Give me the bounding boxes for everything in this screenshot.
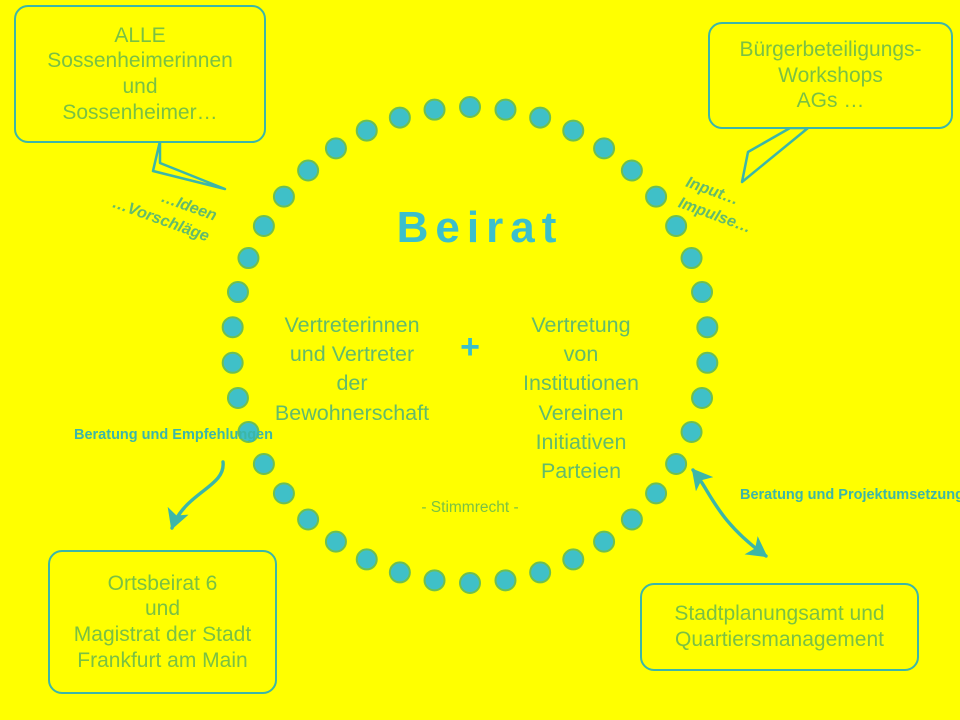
box-stadtplanung-line-1: Stadtplanungsamt und [674, 601, 884, 627]
callout-workshops-line-1: Bürgerbeteiligungs- [739, 37, 921, 63]
callout-alle-line-4: Sossenheimer… [62, 100, 217, 126]
callout-workshops-line-3: AGs … [797, 88, 865, 114]
arrow-label-beratung-empf-line-1: Beratung und [74, 427, 168, 443]
arrow-label-beratung-projektumsetzung: Beratung und Projektumsetzung [740, 485, 920, 505]
arrow-label-beratung-proj-line-2: Projektumsetzung [838, 487, 960, 503]
callout-alle-sossenheimer: ALLE Sossenheimerinnen und Sossenheimer… [14, 5, 266, 143]
box-ortsbeirat-line-4: Frankfurt am Main [77, 648, 247, 674]
box-ortsbeirat-line-3: Magistrat der Stadt [74, 622, 251, 648]
box-stadtplanungsamt-quartiersmanagement: Stadtplanungsamt und Quartiersmanagement [640, 583, 919, 671]
box-ortsbeirat-line-2: und [145, 596, 180, 622]
callout-workshops-tail [742, 128, 808, 182]
callout-alle-tail [153, 141, 225, 189]
callout-alle-line-1: ALLE [114, 23, 165, 49]
box-ortsbeirat-line-1: Ortsbeirat 6 [108, 571, 218, 597]
arrow-label-beratung-proj-line-1: Beratung und [740, 487, 834, 503]
arrow-label-beratung-empfehlungen: Beratung und Empfehlungen [74, 425, 209, 445]
callout-alle-line-3: und [122, 74, 157, 100]
box-ortsbeirat-magistrat: Ortsbeirat 6 und Magistrat der Stadt Fra… [48, 550, 277, 694]
callout-workshops-line-2: Workshops [778, 63, 883, 89]
box-stadtplanung-line-2: Quartiersmanagement [675, 627, 884, 653]
callout-buergerbeteiligungs-workshops: Bürgerbeteiligungs- Workshops AGs … [708, 22, 953, 129]
callout-alle-line-2: Sossenheimerinnen [47, 48, 233, 74]
arrow-label-beratung-empf-line-2: Empfehlungen [172, 427, 273, 443]
diagram-canvas: Beirat Vertreterinnen und Vertreter der … [0, 0, 960, 720]
